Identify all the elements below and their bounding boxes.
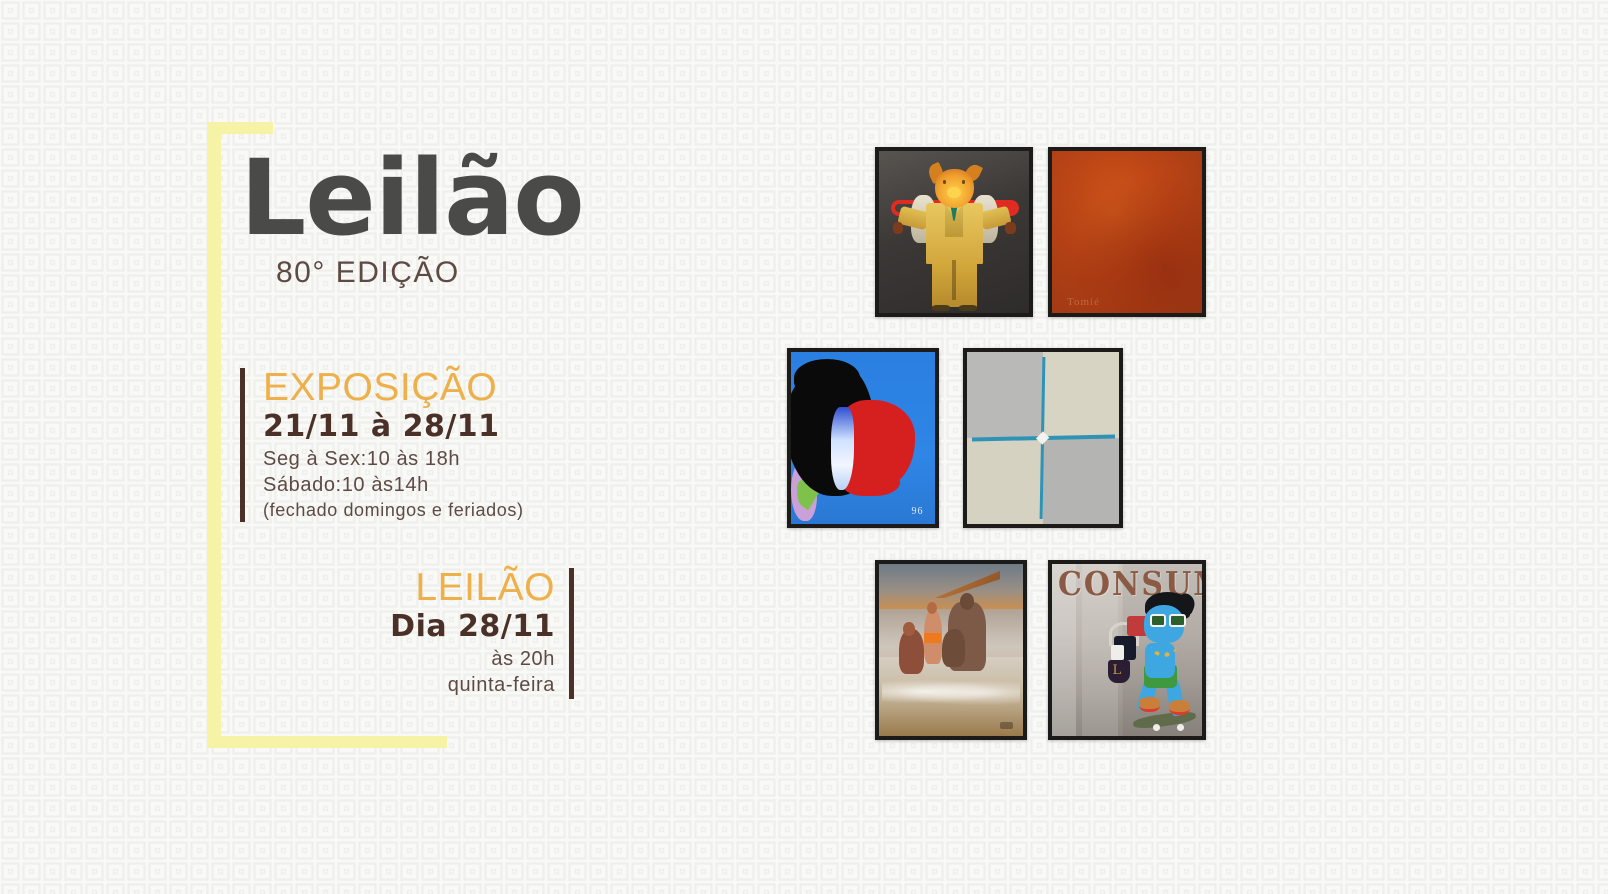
artwork-thumbnail-geometric-quadrants[interactable] bbox=[963, 348, 1123, 528]
yellow-bracket-bottom bbox=[207, 736, 447, 748]
yellow-bracket-top bbox=[207, 122, 273, 134]
artwork-thumbnail-pig-figure[interactable] bbox=[875, 147, 1033, 317]
sky-band-shape bbox=[879, 564, 1023, 609]
handbag-purple bbox=[1108, 660, 1131, 682]
artwork-pig-figure-canvas bbox=[879, 151, 1029, 313]
artwork-orange-monochrome-canvas: Tomié bbox=[1052, 151, 1202, 313]
artwork-signature: Tomié bbox=[1067, 296, 1100, 308]
sneaker-front-shape bbox=[1139, 697, 1160, 712]
exhibition-closed-note: (fechado domingos e feriados) bbox=[263, 499, 563, 523]
quadrant-top-left bbox=[967, 352, 1043, 438]
edition-subtitle: 80° EDIÇÃO bbox=[276, 256, 760, 290]
sunglasses-lens-right bbox=[1169, 614, 1186, 627]
exhibition-heading: EXPOSIÇÃO bbox=[263, 368, 563, 408]
auction-info-block: LEILÃO Dia 28/11 às 20h quinta-feira bbox=[330, 568, 574, 699]
artwork-street-skater-canvas: CONSUM bbox=[1052, 564, 1202, 736]
quadrant-bottom-right bbox=[1043, 438, 1119, 524]
auction-date: Dia 28/11 bbox=[330, 610, 555, 643]
quadrant-top-right bbox=[1043, 352, 1119, 438]
exhibition-hours-saturday: Sábado:10 às14h bbox=[263, 472, 563, 498]
bikini-accent-shape bbox=[924, 633, 941, 643]
pig-eye-right-shape bbox=[962, 180, 966, 184]
exhibition-hours-weekday: Seg à Sex:10 às 18h bbox=[263, 446, 563, 472]
skateboard-wheel-back bbox=[1177, 724, 1185, 731]
artwork-blue-red-gesture-canvas: 96 bbox=[791, 352, 935, 524]
trousers-shape bbox=[932, 260, 977, 307]
hand-left-shape bbox=[893, 222, 904, 233]
pig-eye-left-shape bbox=[943, 180, 947, 184]
poster-canvas: Leilão 80° EDIÇÃO EXPOSIÇÃO 21/11 à 28/1… bbox=[0, 0, 1608, 894]
artwork-thumbnail-blue-red-gesture[interactable]: 96 bbox=[787, 348, 939, 528]
poster-title-block: Leilão 80° EDIÇÃO bbox=[240, 148, 760, 290]
figure-right-knees-shape bbox=[942, 629, 965, 667]
shopping-bag-white bbox=[1111, 645, 1125, 660]
skateboard-wheel-front bbox=[1153, 724, 1161, 731]
auction-time: às 20h bbox=[330, 646, 555, 672]
figure-left-shape bbox=[899, 629, 923, 674]
exhibition-dates: 21/11 à 28/11 bbox=[263, 410, 563, 443]
page-title: Leilão bbox=[240, 148, 760, 250]
artwork-thumbnail-street-skater[interactable]: CONSUM bbox=[1048, 560, 1206, 740]
artwork-thumbnail-orange-monochrome[interactable]: Tomié bbox=[1048, 147, 1206, 317]
sneaker-back-shape bbox=[1169, 700, 1190, 715]
hand-right-shape bbox=[1005, 222, 1016, 233]
shoe-left-shape bbox=[932, 305, 950, 311]
artwork-signature-mark bbox=[1000, 722, 1013, 729]
sea-foam-shape bbox=[882, 678, 1020, 706]
artwork-thumbnail-beach-figures[interactable] bbox=[875, 560, 1027, 740]
yellow-bracket-vertical bbox=[207, 122, 221, 748]
auction-weekday: quinta-feira bbox=[330, 672, 555, 698]
sunglasses-lens-left bbox=[1150, 614, 1167, 627]
black-splatter-shape bbox=[794, 359, 860, 397]
shoe-right-shape bbox=[959, 305, 977, 311]
quadrant-bottom-left bbox=[967, 438, 1043, 524]
artwork-beach-figures-canvas bbox=[879, 564, 1023, 736]
exhibition-info-block: EXPOSIÇÃO 21/11 à 28/11 Seg à Sex:10 às … bbox=[240, 368, 563, 522]
artwork-geometric-quadrants-canvas bbox=[967, 352, 1119, 524]
artwork-signature: 96 bbox=[911, 506, 923, 517]
pig-snout-shape bbox=[947, 187, 961, 198]
auction-heading: LEILÃO bbox=[330, 568, 555, 608]
